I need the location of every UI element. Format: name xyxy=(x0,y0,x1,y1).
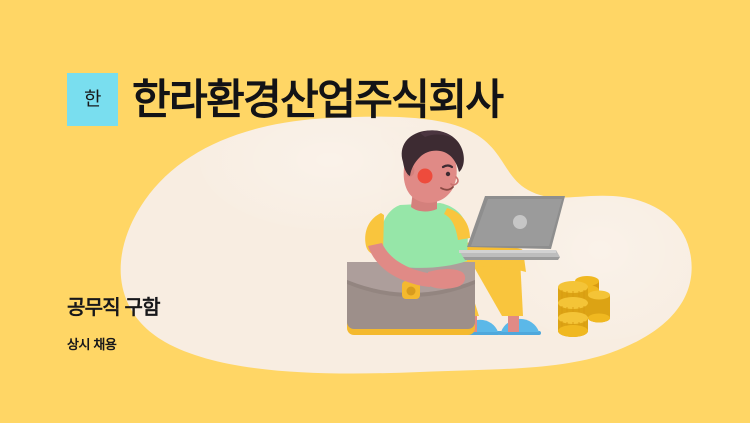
job-subline: 상시 채용 xyxy=(67,337,160,353)
company-title: 한라환경산업주식회사 xyxy=(132,79,502,121)
floor-line xyxy=(459,331,541,335)
laptop xyxy=(459,196,565,260)
coin-stack xyxy=(558,276,610,337)
person-shoes xyxy=(462,319,539,332)
briefcase xyxy=(347,259,475,335)
person-ankles xyxy=(466,310,519,332)
banner-header: 한 한라환경산업주식회사 xyxy=(67,73,502,126)
job-copy-block: 공무직 구함 상시 채용 xyxy=(67,296,160,353)
background-blob xyxy=(121,90,710,374)
person-trousers xyxy=(415,243,526,316)
job-headline: 공무직 구함 xyxy=(67,296,160,320)
person-figure xyxy=(365,130,470,288)
company-initial-badge: 한 xyxy=(67,73,118,126)
job-posting-banner: 한 한라환경산업주식회사 공무직 구함 상시 채용 xyxy=(0,0,750,423)
illustration-artwork xyxy=(0,0,750,423)
company-initial-text: 한 xyxy=(84,90,101,109)
